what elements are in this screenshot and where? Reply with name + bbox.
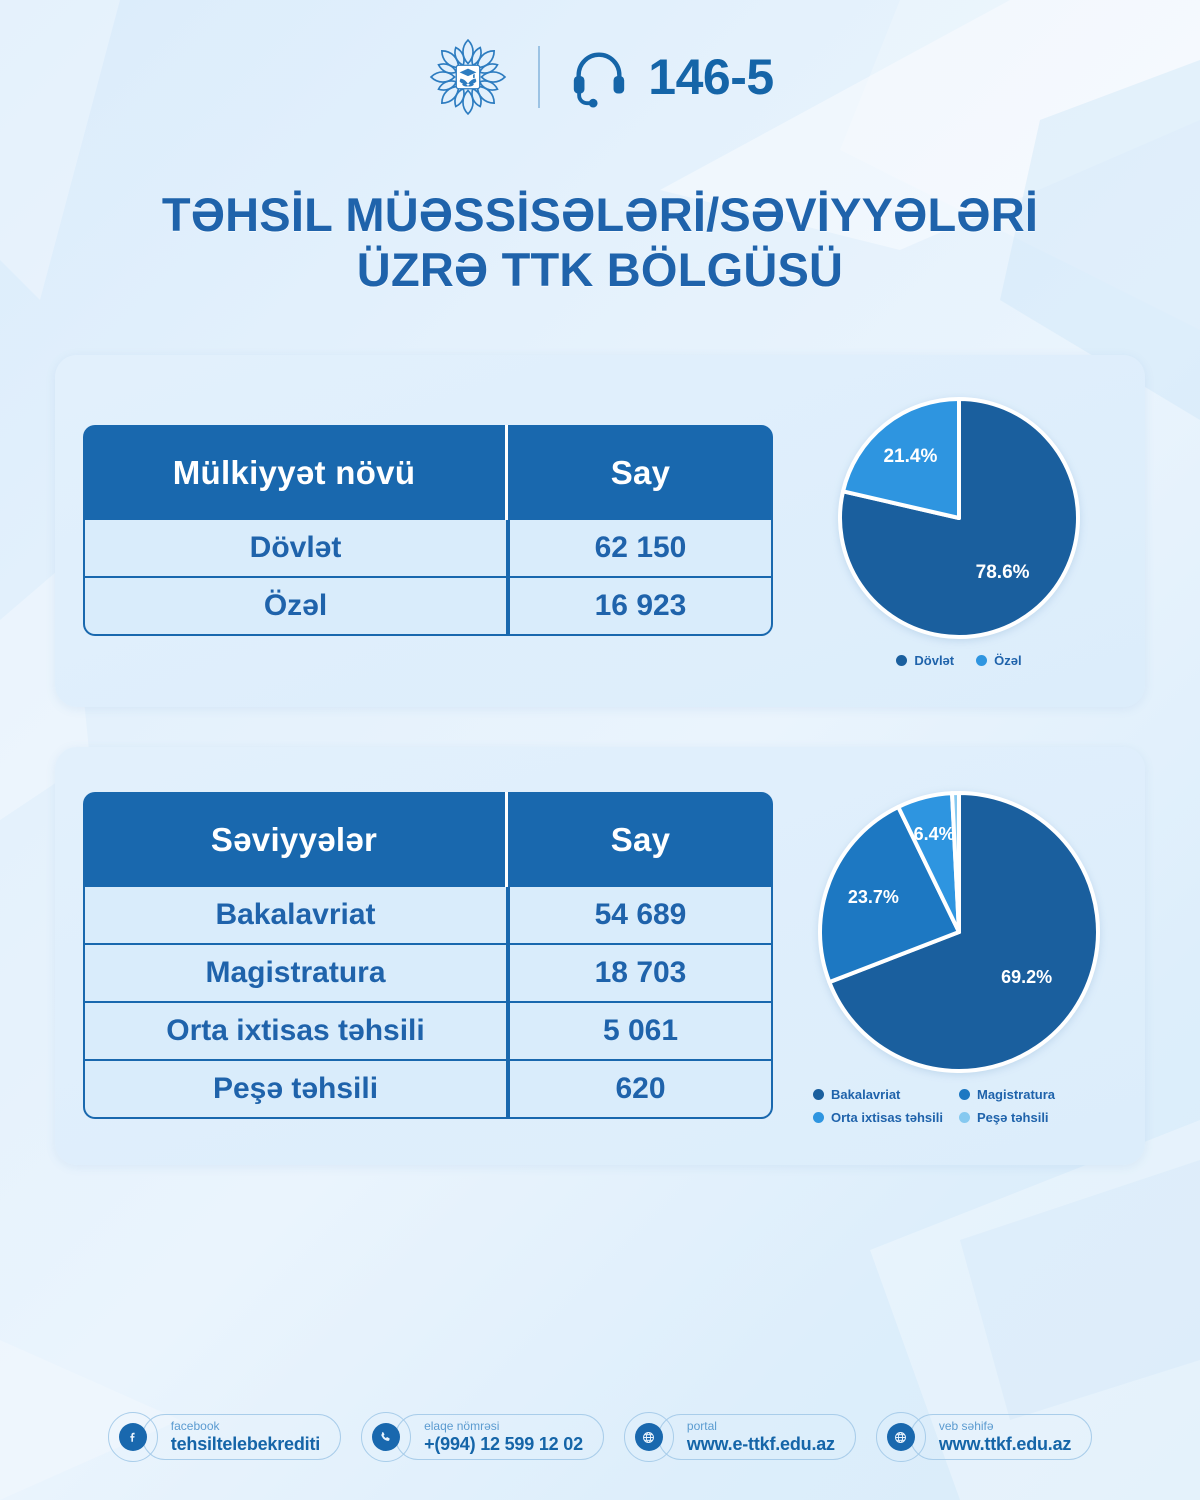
ownership-card: Mülkiyyət növü Say Dövlət 62 150 Özəl 16… [55, 355, 1145, 707]
legend-color-swatch [813, 1089, 824, 1100]
legend-label: Bakalavriat [831, 1087, 900, 1102]
table-row: Magistratura 18 703 [83, 945, 773, 1003]
footer-caption: facebook [171, 1420, 320, 1434]
row-label: Özəl [83, 578, 508, 636]
legend-color-swatch [959, 1089, 970, 1100]
globe-icon [887, 1423, 915, 1451]
footer-icon-ring [361, 1412, 411, 1462]
legend-label: Magistratura [977, 1087, 1055, 1102]
table-row: Dövlət 62 150 [83, 520, 773, 578]
ownership-table: Mülkiyyət növü Say Dövlət 62 150 Özəl 16… [83, 425, 773, 636]
row-count: 16 923 [508, 578, 773, 636]
legend-label: Özəl [994, 653, 1021, 668]
row-label: Bakalavriat [83, 887, 508, 945]
footer-value: www.ttkf.edu.az [939, 1434, 1071, 1455]
column-header-count: Say [508, 792, 773, 887]
pie-slice-label: 21.4% [883, 446, 937, 467]
row-label: Magistratura [83, 945, 508, 1003]
page-header: 146-5 [0, 0, 1200, 110]
footer-item[interactable]: facebooktehsiltelebekrediti [108, 1412, 341, 1462]
row-count: 620 [508, 1061, 773, 1119]
pie-slice-label: 6.4% [914, 824, 955, 844]
column-header-type: Mülkiyyət növü [83, 425, 508, 520]
pie-svg: 69.2%23.7%6.4% [814, 787, 1104, 1077]
row-label: Dövlət [83, 520, 508, 578]
footer-caption: veb səhifə [939, 1420, 1071, 1434]
facebook-icon [119, 1423, 147, 1451]
column-header-count: Say [508, 425, 773, 520]
legend-item: Dövlət [896, 653, 954, 668]
legend-color-swatch [976, 655, 987, 666]
legend-color-swatch [813, 1112, 824, 1123]
footer-icon-ring [624, 1412, 674, 1462]
ministry-emblem-icon [426, 35, 510, 119]
legend-color-swatch [959, 1112, 970, 1123]
footer-pill[interactable]: veb səhifəwww.ttkf.edu.az [910, 1414, 1092, 1460]
legend-label: Dövlət [914, 653, 954, 668]
column-header-level: Səviyyələr [83, 792, 508, 887]
row-label: Peşə təhsili [83, 1061, 508, 1119]
footer-pill[interactable]: facebooktehsiltelebekrediti [142, 1414, 341, 1460]
table-header-row: Səviyyələr Say [83, 792, 773, 887]
phone-icon [372, 1423, 400, 1451]
row-count: 18 703 [508, 945, 773, 1003]
footer-item[interactable]: portalwww.e-ttkf.edu.az [624, 1412, 856, 1462]
footer-pill[interactable]: portalwww.e-ttkf.edu.az [658, 1414, 856, 1460]
levels-legend: BakalavriatMagistraturaOrta ixtisas təhs… [813, 1087, 1105, 1125]
pie-slice-label: 23.7% [848, 887, 899, 907]
table-header-row: Mülkiyyət növü Say [83, 425, 773, 520]
footer-item[interactable]: elaqe nömrəsi+(994) 12 599 12 02 [361, 1412, 604, 1462]
footer-icon-ring [108, 1412, 158, 1462]
infographic-page: 146-5 TƏHSİL MÜƏSSİSƏLƏRİ/SƏVİYYƏLƏRİ ÜZ… [0, 0, 1200, 1500]
ownership-chart-area: 78.6%21.4% DövlətÖzəl [773, 393, 1145, 668]
footer-value: tehsiltelebekrediti [171, 1434, 320, 1455]
legend-item: Magistratura [959, 1087, 1105, 1102]
levels-table: Səviyyələr Say Bakalavriat 54 689 Magist… [83, 792, 773, 1119]
page-title-line-2: ÜZRƏ TTK BÖLGÜSÜ [357, 243, 843, 296]
row-label: Orta ixtisas təhsili [83, 1003, 508, 1061]
legend-item: Peşə təhsili [959, 1110, 1105, 1125]
globe-icon [635, 1423, 663, 1451]
row-count: 62 150 [508, 520, 773, 578]
pie-slice-label: 78.6% [976, 562, 1030, 583]
ownership-legend: DövlətÖzəl [896, 653, 1021, 668]
legend-label: Peşə təhsili [977, 1110, 1049, 1125]
legend-item: Bakalavriat [813, 1087, 959, 1102]
footer-value: +(994) 12 599 12 02 [424, 1434, 583, 1455]
legend-item: Orta ixtisas təhsili [813, 1110, 959, 1125]
ownership-table-area: Mülkiyyət növü Say Dövlət 62 150 Özəl 16… [55, 425, 773, 636]
header-divider [538, 46, 540, 108]
row-count: 5 061 [508, 1003, 773, 1061]
legend-color-swatch [896, 655, 907, 666]
row-count: 54 689 [508, 887, 773, 945]
page-title: TƏHSİL MÜƏSSİSƏLƏRİ/SƏVİYYƏLƏRİ ÜZRƏ TTK… [0, 188, 1200, 298]
table-row: Özəl 16 923 [83, 578, 773, 636]
footer-caption: portal [687, 1420, 835, 1434]
pie-slice-label: 69.2% [1001, 967, 1052, 987]
footer-icon-ring [876, 1412, 926, 1462]
pie-svg: 78.6%21.4% [834, 393, 1084, 643]
headset-icon [568, 46, 630, 108]
page-title-line-1: TƏHSİL MÜƏSSİSƏLƏRİ/SƏVİYYƏLƏRİ [162, 188, 1038, 241]
table-row: Bakalavriat 54 689 [83, 887, 773, 945]
footer-value: www.e-ttkf.edu.az [687, 1434, 835, 1455]
levels-chart-area: 69.2%23.7%6.4% BakalavriatMagistraturaOr… [773, 787, 1145, 1125]
ownership-pie-chart: 78.6%21.4% DövlətÖzəl [834, 393, 1084, 668]
legend-item: Özəl [976, 653, 1021, 668]
hotline-number: 146-5 [648, 52, 773, 102]
footer-item[interactable]: veb səhifəwww.ttkf.edu.az [876, 1412, 1092, 1462]
levels-card: Səviyyələr Say Bakalavriat 54 689 Magist… [55, 747, 1145, 1165]
levels-table-area: Səviyyələr Say Bakalavriat 54 689 Magist… [55, 792, 773, 1119]
legend-label: Orta ixtisas təhsili [831, 1110, 943, 1125]
levels-pie-chart: 69.2%23.7%6.4% BakalavriatMagistraturaOr… [813, 787, 1105, 1125]
table-row: Peşə təhsili 620 [83, 1061, 773, 1119]
footer-pill[interactable]: elaqe nömrəsi+(994) 12 599 12 02 [395, 1414, 604, 1460]
footer-caption: elaqe nömrəsi [424, 1420, 583, 1434]
table-row: Orta ixtisas təhsili 5 061 [83, 1003, 773, 1061]
footer-contact-bar: facebooktehsiltelebekreditielaqe nömrəsi… [0, 1412, 1200, 1462]
